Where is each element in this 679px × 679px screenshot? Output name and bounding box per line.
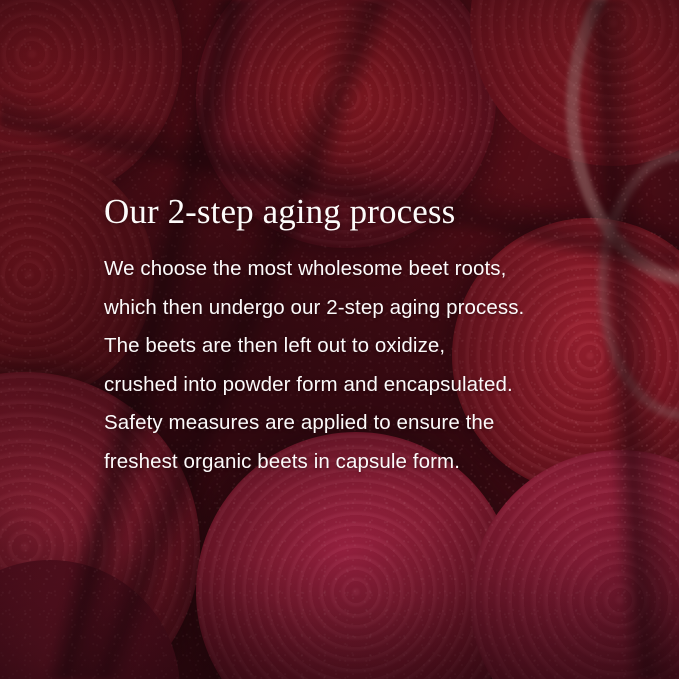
body-line: We choose the most wholesome beet roots,	[104, 250, 604, 289]
body-line: crushed into powder form and encapsulate…	[104, 366, 604, 405]
beet-slice-bottom-far-left	[0, 560, 180, 679]
beet-skin-rim-right-lower	[598, 150, 679, 420]
page-title: Our 2-step aging process	[104, 192, 604, 232]
body-paragraph: We choose the most wholesome beet roots,…	[104, 250, 604, 481]
copy-block: Our 2-step aging process We choose the m…	[104, 192, 604, 481]
product-info-banner: Our 2-step aging process We choose the m…	[0, 0, 679, 679]
body-line: which then undergo our 2-step aging proc…	[104, 289, 604, 328]
beet-slice-top-right	[470, 0, 679, 166]
body-line: The beets are then left out to oxidize,	[104, 327, 604, 366]
body-line: freshest organic beets in capsule form.	[104, 443, 604, 482]
beet-slice-bottom-right	[470, 450, 679, 679]
beet-slice-top-left	[0, 0, 182, 204]
body-line: Safety measures are applied to ensure th…	[104, 404, 604, 443]
